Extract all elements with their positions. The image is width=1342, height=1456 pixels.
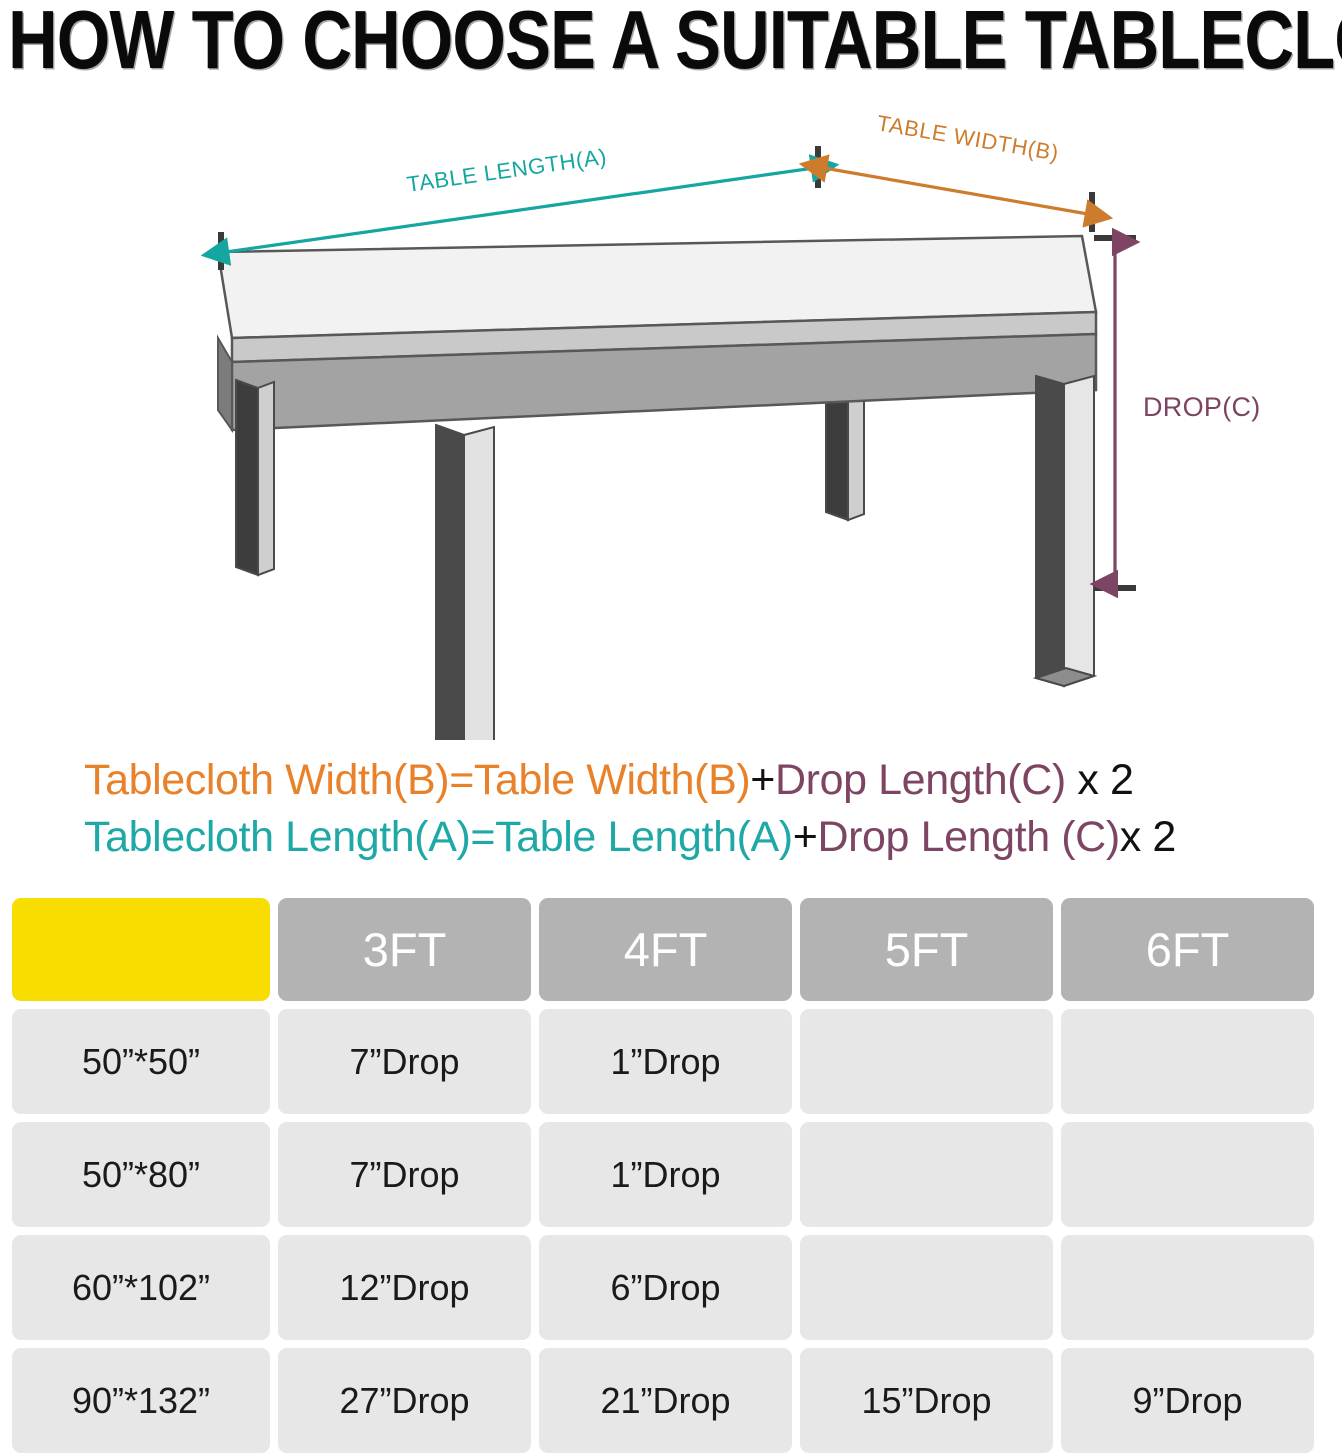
- table-cell-4ft: 1”Drop: [539, 1009, 792, 1114]
- formula-width-part3: x 2: [1066, 756, 1134, 804]
- formula-length: Tablecloth Length(A)=Table Length(A)+Dro…: [84, 809, 1342, 866]
- table-header-5ft: 5FT: [800, 898, 1053, 1001]
- table-cell-6ft: 9”Drop: [1061, 1348, 1314, 1453]
- table-leg-front-right: [1036, 376, 1094, 686]
- formula-width-part1: Tablecloth Width(B)=Table Width(B): [84, 756, 750, 804]
- table-diagram: TABLE LENGTH(A) TABLE WIDTH(B) DROP(C): [0, 80, 1342, 740]
- infographic-page: HOW TO CHOOSE A SUITABLE TABLECLOTH?: [0, 0, 1342, 1456]
- table-cell-3ft: 7”Drop: [278, 1122, 531, 1227]
- table-leg-back-left: [236, 380, 274, 575]
- table-cell-3ft: 7”Drop: [278, 1009, 531, 1114]
- table-cell-6ft: [1061, 1235, 1314, 1340]
- table-row: 50”*50” 7”Drop 1”Drop: [12, 1009, 1314, 1114]
- table-row-size: 90”*132”: [12, 1348, 270, 1453]
- table-diagram-svg: TABLE LENGTH(A) TABLE WIDTH(B) DROP(C): [0, 80, 1342, 740]
- table-cell-4ft: 1”Drop: [539, 1122, 792, 1227]
- table-cell-5ft: [800, 1009, 1053, 1114]
- page-title: HOW TO CHOOSE A SUITABLE TABLECLOTH?: [8, 0, 1342, 81]
- width-arrow-line: [824, 168, 1088, 214]
- table-header-row: 3FT 4FT 5FT 6FT: [12, 898, 1314, 1001]
- table-apron-left: [218, 338, 232, 430]
- table-row: 90”*132” 27”Drop 21”Drop 15”Drop 9”Drop: [12, 1348, 1314, 1453]
- table-cell-4ft: 21”Drop: [539, 1348, 792, 1453]
- table-header-6ft: 6FT: [1061, 898, 1314, 1001]
- table-cell-5ft: 15”Drop: [800, 1348, 1053, 1453]
- table-illustration: [218, 236, 1096, 740]
- table-drop-dimension: DROP(C): [1094, 238, 1261, 588]
- tablecloth-size-table: 3FT 4FT 5FT 6FT 50”*50” 7”Drop 1”Drop 50…: [12, 898, 1314, 1456]
- table-leg-front-left: [436, 425, 494, 740]
- table-header-3ft: 3FT: [278, 898, 531, 1001]
- table-cell-4ft: 6”Drop: [539, 1235, 792, 1340]
- table-row-size: 50”*80”: [12, 1122, 270, 1227]
- formula-length-part3: x 2: [1120, 813, 1176, 861]
- table-row-size: 50”*50”: [12, 1009, 270, 1114]
- formula-length-part1: Tablecloth Length(A)=Table Length(A): [84, 813, 793, 861]
- formula-length-plus: +: [793, 813, 818, 861]
- table-length-label: TABLE LENGTH(A): [405, 144, 608, 197]
- table-header-4ft: 4FT: [539, 898, 792, 1001]
- formula-block: Tablecloth Width(B)=Table Width(B)+Drop …: [0, 752, 1342, 874]
- table-cell-5ft: [800, 1122, 1053, 1227]
- table-cell-6ft: [1061, 1122, 1314, 1227]
- table-cell-3ft: 12”Drop: [278, 1235, 531, 1340]
- table-row: 60”*102” 12”Drop 6”Drop: [12, 1235, 1314, 1340]
- formula-width-plus: +: [750, 756, 775, 804]
- formula-width: Tablecloth Width(B)=Table Width(B)+Drop …: [84, 752, 1342, 809]
- table-cell-5ft: [800, 1235, 1053, 1340]
- table-width-dimension: TABLE WIDTH(B): [824, 110, 1092, 232]
- formula-length-part2: Drop Length (C): [817, 813, 1119, 861]
- table-corner-cell: [12, 898, 270, 1001]
- table-width-label: TABLE WIDTH(B): [875, 110, 1061, 165]
- table-row: 50”*80” 7”Drop 1”Drop: [12, 1122, 1314, 1227]
- formula-width-part2: Drop Length(C): [775, 756, 1066, 804]
- table-drop-label: DROP(C): [1143, 392, 1261, 422]
- table-cell-3ft: 27”Drop: [278, 1348, 531, 1453]
- table-cell-6ft: [1061, 1009, 1314, 1114]
- table-row-size: 60”*102”: [12, 1235, 270, 1340]
- page-title-bar: HOW TO CHOOSE A SUITABLE TABLECLOTH?: [0, 0, 1342, 80]
